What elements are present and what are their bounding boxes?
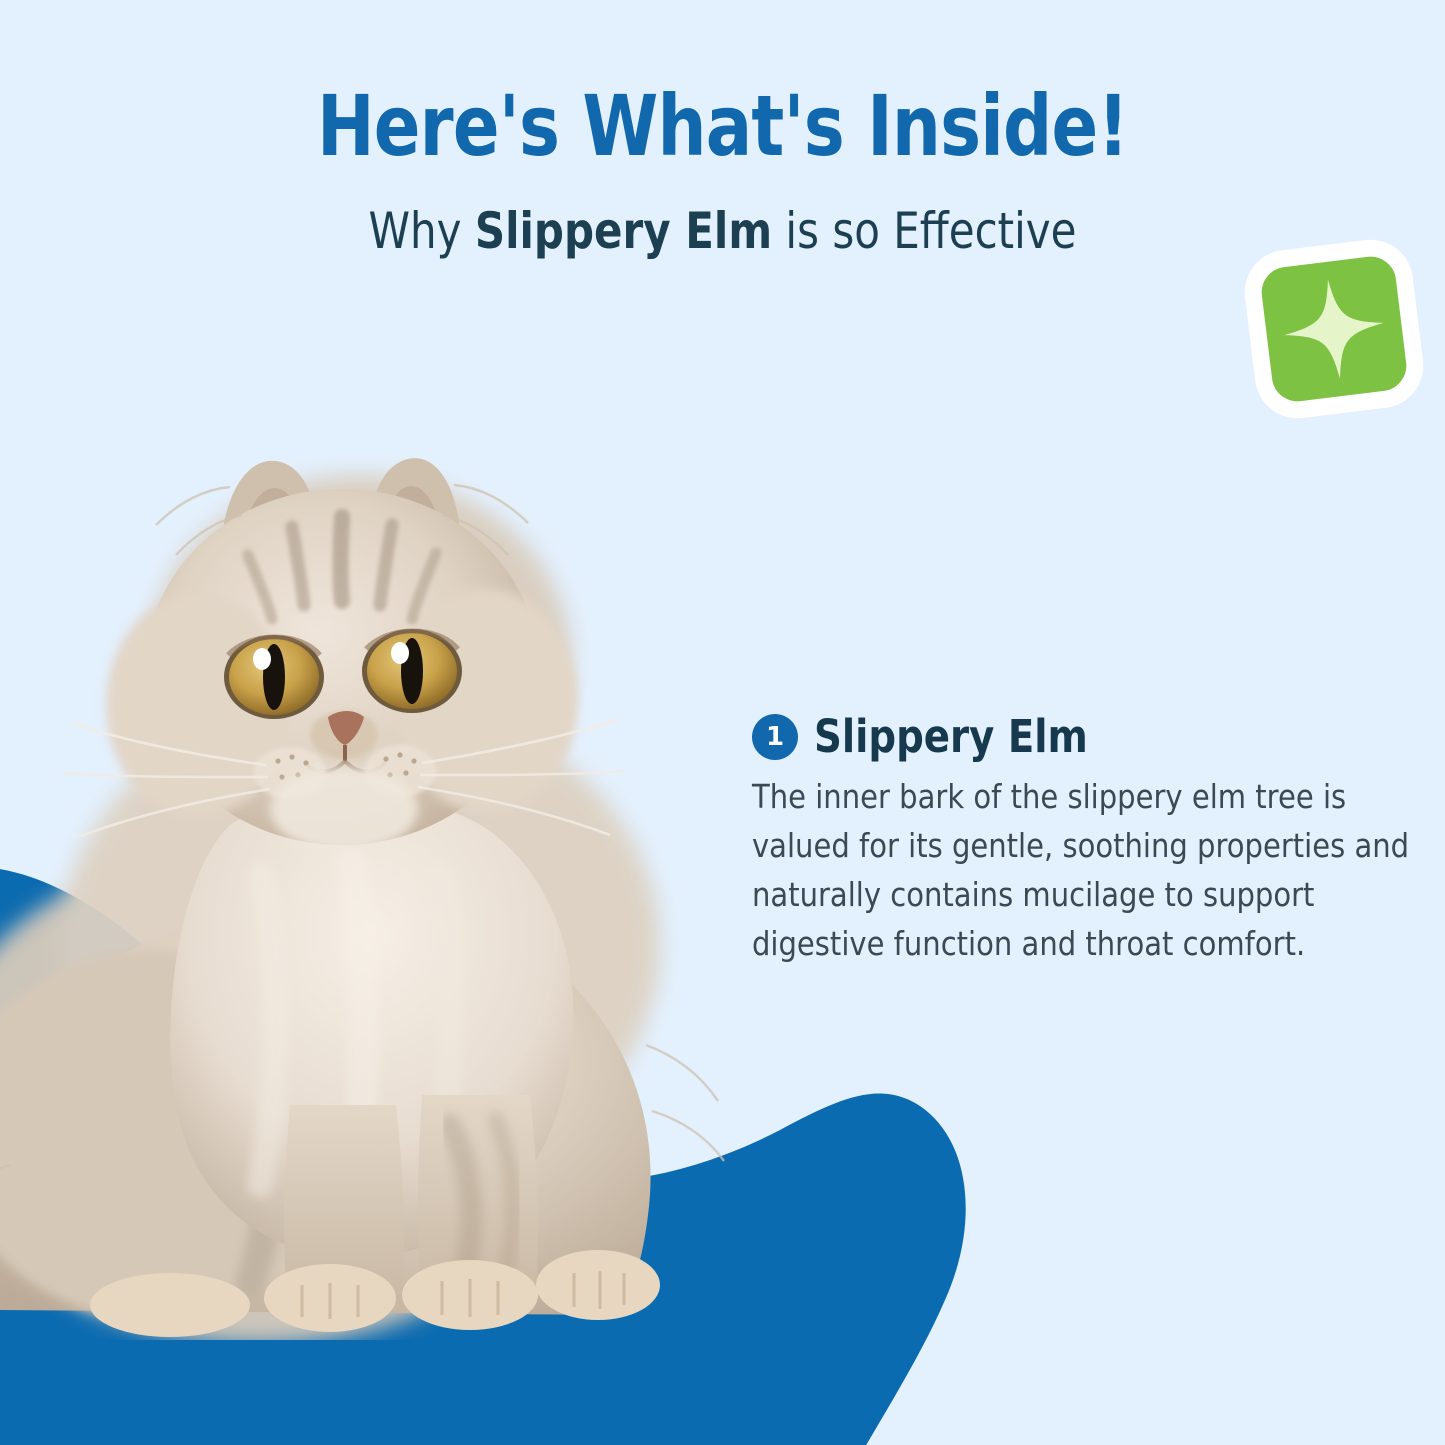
page-title: Here's What's Inside!: [130, 78, 1315, 174]
persian-cat-photo: [0, 405, 730, 1340]
ingredient-description: The inner bark of the slippery elm tree …: [752, 772, 1438, 968]
ingredient-heading: 1 Slippery Elm: [752, 712, 1442, 762]
ingredient-name: Slippery Elm: [814, 712, 1088, 762]
ingredient-number-badge: 1: [752, 714, 798, 760]
ingredient-item-1: 1 Slippery Elm The inner bark of the sli…: [752, 712, 1442, 968]
subtitle-suffix: is so Effective: [772, 202, 1076, 260]
sparkle-icon: [1238, 233, 1430, 425]
page-subtitle: Why Slippery Elm is so Effective: [116, 200, 1330, 262]
subtitle-prefix: Why: [368, 202, 474, 260]
infographic-page: Here's What's Inside! Why Slippery Elm i…: [0, 0, 1445, 1445]
subtitle-bold: Slippery Elm: [475, 202, 772, 260]
